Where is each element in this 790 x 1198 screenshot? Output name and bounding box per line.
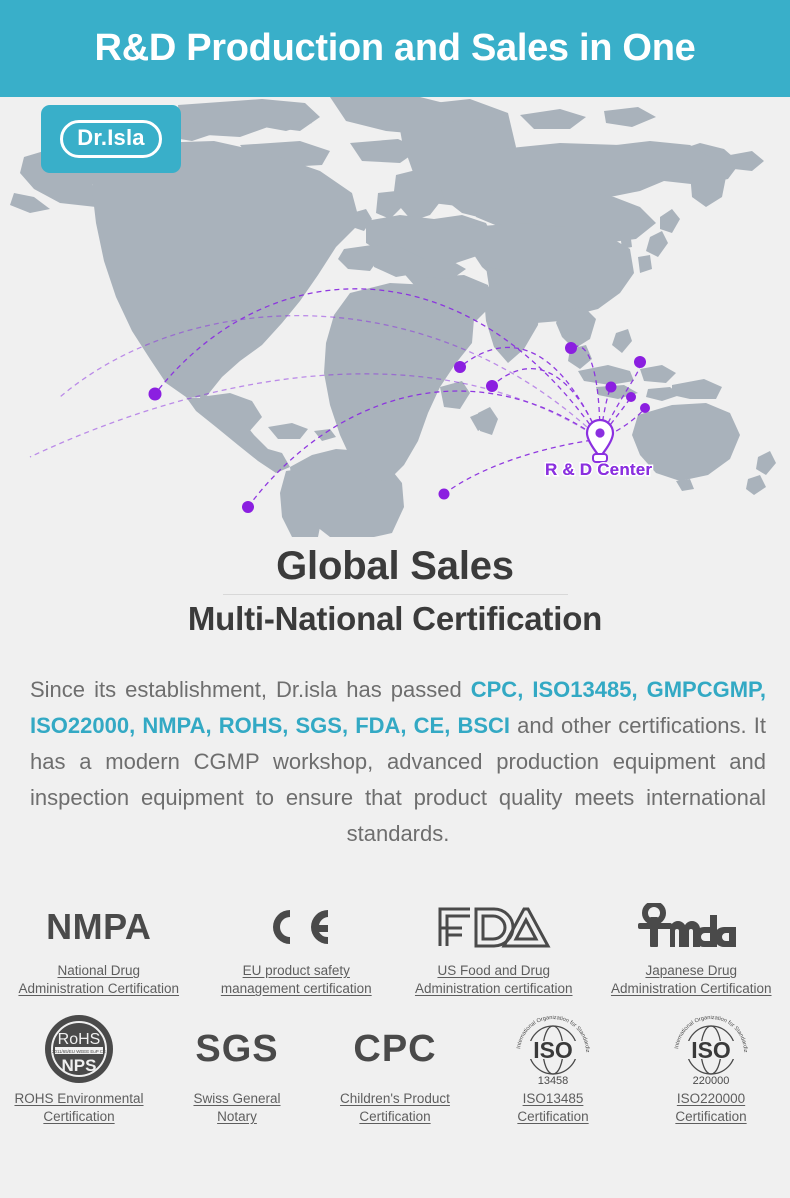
map-node-south-america	[242, 501, 254, 513]
certification-caption: Japanese Drug Administration Certificati…	[611, 962, 772, 998]
rohs-bottom-text: NPS	[62, 1056, 97, 1075]
section-headings: Global Sales Multi-National Certificatio…	[0, 543, 790, 639]
certification-pmda: Japanese Drug Administration Certificati…	[593, 898, 790, 998]
caption-line-2: Certification	[675, 1108, 746, 1126]
caption-line-2: Certification	[517, 1108, 588, 1126]
certification-cpc: CPC Children's Product Certification	[316, 1014, 474, 1126]
certification-caption: ISO13485 Certification	[517, 1090, 588, 1126]
map-node-japan-south	[640, 403, 650, 413]
caption-line-1: ISO13485	[517, 1090, 588, 1108]
caption-line-1: Swiss General	[193, 1090, 280, 1108]
caption-line-1: ROHS Environmental	[14, 1090, 143, 1108]
certification-rohs: RoHS 2011/65/EU WEEE EuP CE NPS ROHS Env…	[0, 1014, 158, 1126]
certification-caption: EU product safety management certificati…	[221, 962, 372, 998]
certification-caption: ROHS Environmental Certification	[14, 1090, 143, 1126]
iso-text: ISO	[533, 1037, 573, 1063]
certification-row-1: NMPA National Drug Administration Certif…	[0, 898, 790, 998]
caption-line-1: ISO220000	[675, 1090, 746, 1108]
caption-line-2: Administration Certification	[18, 980, 179, 998]
page-header: R&D Production and Sales in One	[0, 0, 790, 97]
caption-line-2: Administration certification	[415, 980, 573, 998]
brand-logo: Dr.Isla	[41, 105, 181, 173]
ce-mark-icon	[260, 898, 332, 956]
certification-fda: US Food and Drug Administration certific…	[395, 898, 593, 998]
page-title: R&D Production and Sales in One	[95, 27, 696, 70]
rohs-badge-svg: RoHS 2011/65/EU WEEE EuP CE NPS	[43, 1013, 115, 1085]
pmda-logo-icon	[632, 898, 750, 956]
certification-ce: EU product safety management certificati…	[198, 898, 396, 998]
caption-line-2: Notary	[193, 1108, 280, 1126]
heading-divider	[223, 594, 568, 595]
global-sales-heading: Global Sales	[0, 543, 790, 589]
multi-national-certification-heading: Multi-National Certification	[0, 599, 790, 639]
map-node-north-east-asia	[565, 342, 577, 354]
iso-badge-icon: International Organization for Standardi…	[510, 1014, 596, 1084]
fda-logo-svg	[436, 904, 552, 950]
caption-line-1: US Food and Drug	[415, 962, 573, 980]
certification-caption: US Food and Drug Administration certific…	[415, 962, 573, 998]
rd-center-label: R & D Center	[545, 460, 652, 480]
map-node-far-east	[634, 356, 646, 368]
nmpa-wordmark-icon: NMPA	[46, 898, 151, 956]
caption-line-2: Certification	[14, 1108, 143, 1126]
brand-logo-text: Dr.Isla	[60, 120, 161, 157]
caption-line-2: management certification	[221, 980, 372, 998]
certification-row-2: RoHS 2011/65/EU WEEE EuP CE NPS ROHS Env…	[0, 1014, 790, 1126]
iso-badge-icon: International Organization for Standardi…	[668, 1014, 754, 1084]
cpc-wordmark-text: CPC	[353, 1028, 436, 1071]
caption-line-2: Certification	[340, 1108, 450, 1126]
certification-nmpa: NMPA National Drug Administration Certif…	[0, 898, 198, 998]
certification-caption: Swiss General Notary	[193, 1090, 280, 1126]
certification-iso13485: International Organization for Standardi…	[474, 1014, 632, 1126]
map-node-korea	[606, 382, 617, 393]
map-node-east-europe	[454, 361, 466, 373]
nmpa-wordmark-text: NMPA	[46, 906, 151, 948]
rohs-mid-text: 2011/65/EU WEEE EuP CE	[52, 1049, 106, 1054]
ce-mark-svg	[260, 906, 332, 948]
iso-number-13458: 13458	[538, 1075, 569, 1087]
certification-caption: ISO220000 Certification	[675, 1090, 746, 1126]
caption-line-1: EU product safety	[221, 962, 372, 980]
certification-caption: Children's Product Certification	[340, 1090, 450, 1126]
iso-number-220000: 220000	[693, 1075, 730, 1087]
map-node-japan-north	[626, 392, 636, 402]
certification-caption: National Drug Administration Certificati…	[18, 962, 179, 998]
certification-paragraph: Since its establishment, Dr.isla has pas…	[30, 672, 766, 852]
caption-line-1: Children's Product	[340, 1090, 450, 1108]
fda-logo-icon	[436, 898, 552, 956]
certification-iso220000: International Organization for Standardi…	[632, 1014, 790, 1126]
caption-line-2: Administration Certification	[611, 980, 772, 998]
certification-sgs: SGS Swiss General Notary	[158, 1014, 316, 1126]
iso-badge-svg: International Organization for Standardi…	[510, 1010, 596, 1088]
cpc-wordmark-icon: CPC	[353, 1014, 436, 1084]
pmda-logo-svg	[632, 903, 750, 951]
rohs-top-text: RoHS	[58, 1031, 101, 1048]
map-node-east-africa	[439, 489, 450, 500]
iso-text: ISO	[691, 1037, 731, 1063]
paragraph-lead: Since its establishment, Dr.isla has pas…	[30, 677, 471, 702]
caption-line-1: Japanese Drug	[611, 962, 772, 980]
sgs-wordmark-icon: SGS	[195, 1014, 278, 1084]
map-node-north-america	[149, 388, 162, 401]
sgs-wordmark-text: SGS	[195, 1028, 278, 1071]
iso-badge-svg: International Organization for Standardi…	[668, 1010, 754, 1088]
caption-line-1: National Drug	[18, 962, 179, 980]
rohs-badge-icon: RoHS 2011/65/EU WEEE EuP CE NPS	[43, 1014, 115, 1084]
map-node-central-asia	[486, 380, 498, 392]
